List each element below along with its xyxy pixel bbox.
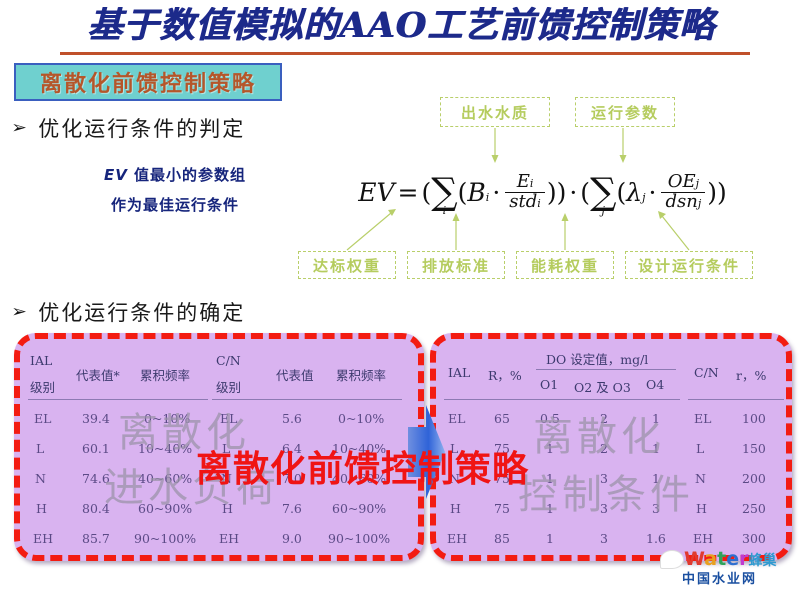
slide-root: 基于数值模拟的AAO工艺前馈控制策略 离散化前馈控制策略 ➢ 优化运行条件的判定… bbox=[0, 0, 803, 590]
table-row-cn: L bbox=[696, 441, 704, 456]
table-row-rep: 39.4 bbox=[82, 411, 110, 426]
table-row-cn: H bbox=[696, 501, 707, 516]
table-row-do2: 3 bbox=[600, 531, 608, 546]
table-row-r: 75 bbox=[494, 501, 510, 516]
left-panel-table: IAL 级别 代表值* 累积频率 C/N 级别 代表值 累积频率 EL 39.4… bbox=[20, 339, 418, 555]
do-title-rule bbox=[536, 369, 676, 370]
table-row-level: EH bbox=[33, 531, 53, 546]
header-cn: C/N bbox=[694, 365, 719, 380]
table-row-cn: EH bbox=[693, 531, 713, 546]
header-freq-b: 累积频率 bbox=[336, 365, 386, 384]
table-row-do3: 1 bbox=[652, 441, 660, 456]
bullet-arrow-icon: ➢ bbox=[11, 120, 29, 137]
formula-fraction-OE-dsn: OEj dsnj bbox=[661, 173, 705, 212]
table-row-level: L bbox=[36, 441, 44, 456]
formula-lparen-2: ( bbox=[458, 178, 468, 207]
tag-discharge-standard: 排放标准 bbox=[407, 251, 505, 279]
bullet-item-determination: ➢ 优化运行条件的确定 bbox=[12, 297, 245, 327]
logo-chinese-text: 中国水业网 bbox=[682, 568, 757, 587]
formula-rparen-3: ) bbox=[707, 178, 717, 207]
header-rep-a: 代表值* bbox=[76, 365, 120, 384]
table-row-cn-r: 150 bbox=[742, 441, 766, 456]
table-row-freq: 0~10% bbox=[144, 411, 190, 426]
header-rule-b bbox=[212, 399, 402, 400]
subnote-ev-symbol: EV bbox=[104, 166, 128, 184]
table-row-ial: L bbox=[450, 441, 458, 456]
formula-lparen-3: ( bbox=[580, 178, 590, 207]
header-cn-bottom: 级别 bbox=[216, 377, 241, 396]
table-row-level: N bbox=[221, 471, 232, 486]
formula-rparen-4: ) bbox=[717, 178, 727, 207]
page-title: 基于数值模拟的AAO工艺前馈控制策略 bbox=[0, 2, 803, 50]
header-ial: IAL bbox=[448, 365, 470, 380]
table-row-r: 85 bbox=[494, 531, 510, 546]
table-row-rep: 85.7 bbox=[82, 531, 110, 546]
subnote-line-1: EV 值最小的参数组 bbox=[50, 160, 300, 190]
header-do-o2o3: O2 及 O3 bbox=[574, 377, 631, 396]
formula-term-B: Bi bbox=[467, 178, 489, 207]
table-row-r: 65 bbox=[494, 411, 510, 426]
title-area: 基于数值模拟的AAO工艺前馈控制策略 bbox=[0, 2, 803, 60]
table-row-freq: 60~90% bbox=[332, 501, 386, 516]
formula-area: 出水水质 运行参数 EV = ( ∑i ( Bi · Ei stdi ) ) ·… bbox=[290, 95, 795, 295]
subnote-line-1-rest: 值最小的参数组 bbox=[128, 166, 246, 184]
subnote-line-2: 作为最佳运行条件 bbox=[50, 190, 300, 220]
header-do-o4: O4 bbox=[646, 377, 664, 392]
table-row-r: 75 bbox=[494, 471, 510, 486]
table-row-rep: 7.6 bbox=[282, 501, 302, 516]
table-row-do3: 1.6 bbox=[646, 531, 666, 546]
formula-frac-numerator-E: Ei bbox=[513, 173, 538, 192]
table-row-freq: 90~100% bbox=[328, 531, 390, 546]
header-r-pct: R，% bbox=[488, 365, 522, 384]
left-discretization-panel: IAL 级别 代表值* 累积频率 C/N 级别 代表值 累积频率 EL 39.4… bbox=[14, 333, 424, 561]
section-header-chip: 离散化前馈控制策略 bbox=[14, 63, 282, 101]
table-row-do1: 1 bbox=[546, 471, 554, 486]
tag-design-operating-condition: 设计运行条件 bbox=[625, 251, 753, 279]
header-rule-left bbox=[444, 399, 680, 400]
table-row-cn-r: 250 bbox=[742, 501, 766, 516]
table-row-do2: 2 bbox=[600, 441, 608, 456]
table-row-freq: 0~10% bbox=[338, 411, 384, 426]
formula-rparen-1: ) bbox=[547, 178, 557, 207]
right-panel-table: IAL R，% DO 设定值，mg/l O1 O2 及 O3 O4 C/N r，… bbox=[436, 339, 786, 555]
table-row-level: EH bbox=[219, 531, 239, 546]
formula-sigma-j: ∑j bbox=[590, 177, 616, 207]
table-row-rep: 5.6 bbox=[282, 411, 302, 426]
table-row-do1: 0.5 bbox=[540, 411, 560, 426]
header-rule-a bbox=[28, 399, 208, 400]
tag-effluent-quality: 出水水质 bbox=[440, 97, 550, 127]
tag-operating-parameters: 运行参数 bbox=[575, 97, 675, 127]
header-r-small: r，% bbox=[736, 365, 766, 384]
table-row-level: H bbox=[36, 501, 47, 516]
table-row-cn-r: 200 bbox=[742, 471, 766, 486]
formula-lparen-4: ( bbox=[616, 178, 626, 207]
table-row-ial: EL bbox=[448, 411, 465, 426]
bullet-label: 优化运行条件的确定 bbox=[38, 297, 245, 327]
formula-rparen-2: ) bbox=[557, 178, 567, 207]
table-row-level: N bbox=[35, 471, 46, 486]
table-row-do2: 2 bbox=[600, 411, 608, 426]
tag-energy-weight: 能耗权重 bbox=[516, 251, 614, 279]
formula-lparen-1: ( bbox=[421, 178, 431, 207]
table-row-rep: 6.4 bbox=[282, 441, 302, 456]
table-row-do1: 1 bbox=[546, 501, 554, 516]
formula-term-lambda: λj bbox=[626, 178, 645, 207]
header-ial-top: IAL bbox=[30, 353, 52, 368]
formula-frac-denominator-dsn: dsnj bbox=[661, 192, 705, 212]
table-row-level: L bbox=[222, 441, 230, 456]
header-do-title: DO 设定值，mg/l bbox=[546, 349, 648, 368]
subnote-text: EV 值最小的参数组 作为最佳运行条件 bbox=[50, 160, 300, 220]
transition-arrow-icon bbox=[404, 393, 448, 511]
table-row-ial: N bbox=[449, 471, 460, 486]
title-underline bbox=[60, 52, 750, 55]
formula-frac-numerator-OE: OEj bbox=[664, 173, 703, 192]
header-ial-bottom: 级别 bbox=[30, 377, 55, 396]
table-row-cn: EL bbox=[694, 411, 711, 426]
table-row-cn-r: 300 bbox=[742, 531, 766, 546]
bullet-item-judgment: ➢ 优化运行条件的判定 bbox=[12, 113, 245, 143]
table-row-freq: 40~60% bbox=[138, 471, 192, 486]
bullet-arrow-icon: ➢ bbox=[11, 304, 29, 321]
table-row-ial: EH bbox=[447, 531, 467, 546]
table-row-cn-r: 100 bbox=[742, 411, 766, 426]
table-row-rep: 74.6 bbox=[82, 471, 110, 486]
formula-cdot-1: · bbox=[489, 178, 503, 207]
table-row-level: EL bbox=[34, 411, 51, 426]
table-row-freq: 60~90% bbox=[138, 501, 192, 516]
logo-brand-text: Water蜂巢 bbox=[684, 548, 776, 570]
formula-cdot-2: · bbox=[646, 178, 660, 207]
table-row-freq: 10~40% bbox=[332, 441, 386, 456]
table-row-do1: 1 bbox=[546, 531, 554, 546]
formula-equals: = bbox=[395, 178, 422, 207]
tag-compliance-weight: 达标权重 bbox=[298, 251, 396, 279]
speech-bubble-icon bbox=[660, 550, 684, 569]
table-row-do3: 1 bbox=[652, 411, 660, 426]
table-row-rep: 60.1 bbox=[82, 441, 110, 456]
right-control-condition-panel: IAL R，% DO 设定值，mg/l O1 O2 及 O3 O4 C/N r，… bbox=[430, 333, 792, 561]
section-header-label: 离散化前馈控制策略 bbox=[40, 66, 256, 98]
table-row-freq: 90~100% bbox=[134, 531, 196, 546]
header-do-o1: O1 bbox=[540, 377, 558, 392]
formula-expression: EV = ( ∑i ( Bi · Ei stdi ) ) · ( ∑j ( λj… bbox=[290, 153, 795, 231]
table-row-r: 75 bbox=[494, 441, 510, 456]
table-row-do1: 1 bbox=[546, 441, 554, 456]
table-row-do2: 3 bbox=[600, 501, 608, 516]
header-freq-a: 累积频率 bbox=[140, 365, 190, 384]
header-rep-b: 代表值 bbox=[276, 365, 314, 384]
table-row-rep: 7.0 bbox=[282, 471, 302, 486]
bullet-label: 优化运行条件的判定 bbox=[38, 113, 245, 143]
formula-fraction-E-std: Ei stdi bbox=[505, 173, 545, 212]
formula-lhs: EV bbox=[358, 178, 394, 207]
table-row-freq: 40~60% bbox=[332, 471, 386, 486]
formula-frac-denominator-std: stdi bbox=[505, 192, 545, 212]
table-row-freq: 10~40% bbox=[138, 441, 192, 456]
table-row-ial: H bbox=[450, 501, 461, 516]
table-row-rep: 80.4 bbox=[82, 501, 110, 516]
header-cn-top: C/N bbox=[216, 353, 241, 368]
table-row-do3: 1 bbox=[652, 471, 660, 486]
formula-cdot-mid: · bbox=[566, 178, 580, 207]
table-row-rep: 9.0 bbox=[282, 531, 302, 546]
table-row-cn: N bbox=[695, 471, 706, 486]
table-row-level: EL bbox=[220, 411, 237, 426]
formula-sigma-i: ∑i bbox=[431, 177, 457, 207]
site-watermark-logo: Water蜂巢 中国水业网 bbox=[660, 548, 800, 588]
table-row-level: H bbox=[222, 501, 233, 516]
table-row-do3: 3 bbox=[652, 501, 660, 516]
table-row-do2: 3 bbox=[600, 471, 608, 486]
header-rule-right bbox=[688, 399, 784, 400]
